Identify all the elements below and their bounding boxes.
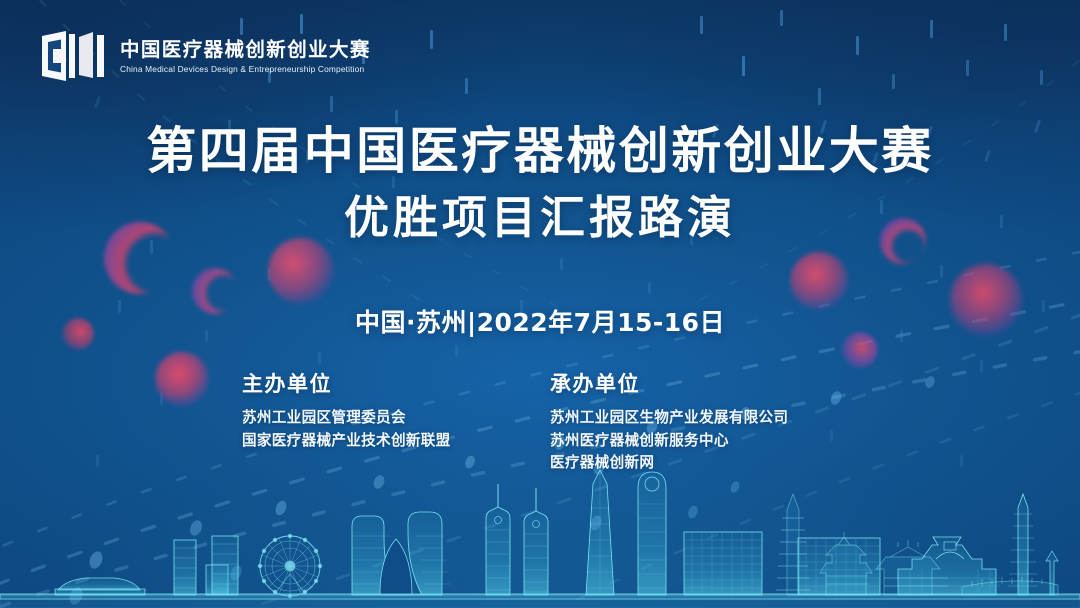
organizer-item: 苏州工业园区生物产业发展有限公司 — [550, 407, 850, 430]
organizer-block-coorganizer: 承办单位 苏州工业园区生物产业发展有限公司 苏州医疗器械创新服务中心 医疗器械创… — [542, 368, 850, 475]
organizer-item: 苏州工业园区管理委员会 — [242, 407, 542, 430]
competition-logo: 中国医疗器械创新创业大赛 China Medical Devices Desig… — [40, 28, 372, 84]
organizer-item: 国家医疗器械产业技术创新联盟 — [242, 430, 542, 453]
title-line-2: 优胜项目汇报路演 — [0, 189, 1080, 248]
organizer-block-host: 主办单位 苏州工业园区管理委员会 国家医疗器械产业技术创新联盟 — [230, 368, 542, 475]
title-line-1: 第四届中国医疗器械创新创业大赛 — [0, 122, 1080, 181]
logo-english-name: China Medical Devices Design & Entrepren… — [120, 64, 364, 74]
orb-right-left — [790, 252, 848, 310]
organizer-heading: 承办单位 — [550, 368, 850, 398]
organizers-section: 主办单位 苏州工业园区管理委员会 国家医疗器械产业技术创新联盟 承办单位 苏州工… — [0, 368, 1080, 475]
poster-title-block: 第四届中国医疗器械创新创业大赛 优胜项目汇报路演 — [0, 122, 1080, 248]
date-location-line: 中国·苏州|2022年7月15-16日 — [0, 303, 1080, 339]
organizer-heading: 主办单位 — [242, 368, 542, 398]
logo-chinese-name: 中国医疗器械创新创业大赛 — [120, 40, 372, 60]
event-poster: 中国医疗器械创新创业大赛 China Medical Devices Desig… — [0, 0, 1080, 608]
orb-left-large — [268, 238, 334, 304]
organizer-item: 苏州医疗器械创新服务中心 — [550, 430, 850, 453]
organizer-item: 医疗器械创新网 — [550, 452, 850, 475]
open-book-door-logo-icon — [40, 28, 106, 84]
